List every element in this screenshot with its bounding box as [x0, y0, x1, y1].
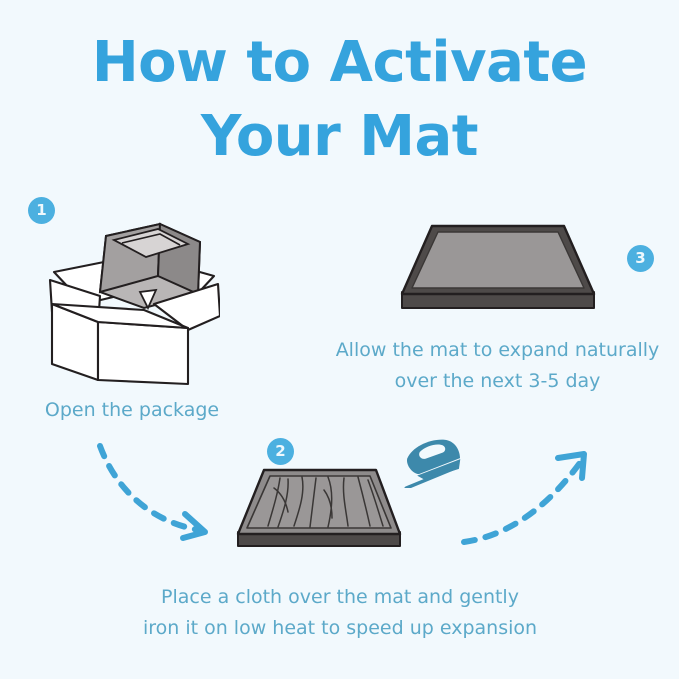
mat-top-surface — [412, 232, 584, 288]
page-title: How to Activate Your Mat — [0, 26, 679, 174]
wrinkled-mat-illustration — [228, 462, 410, 563]
open-box-illustration — [48, 218, 220, 395]
title-line-1: How to Activate — [92, 30, 587, 95]
step-3-caption: Allow the mat to expand naturally over t… — [320, 335, 675, 397]
step-badge-3: 3 — [627, 245, 654, 272]
flat-mat-illustration — [390, 218, 606, 327]
step-1-caption: Open the package — [10, 395, 254, 426]
step-2-caption: Place a cloth over the mat and gently ir… — [110, 582, 570, 644]
step-badge-2: 2 — [267, 438, 294, 465]
title-line-2: Your Mat — [0, 100, 679, 174]
arrow-step2-to-step3 — [458, 438, 598, 555]
arrow-step1-to-step2 — [95, 440, 225, 550]
box-front-face — [98, 322, 188, 384]
infographic-canvas: How to Activate Your Mat 1 — [0, 0, 679, 679]
